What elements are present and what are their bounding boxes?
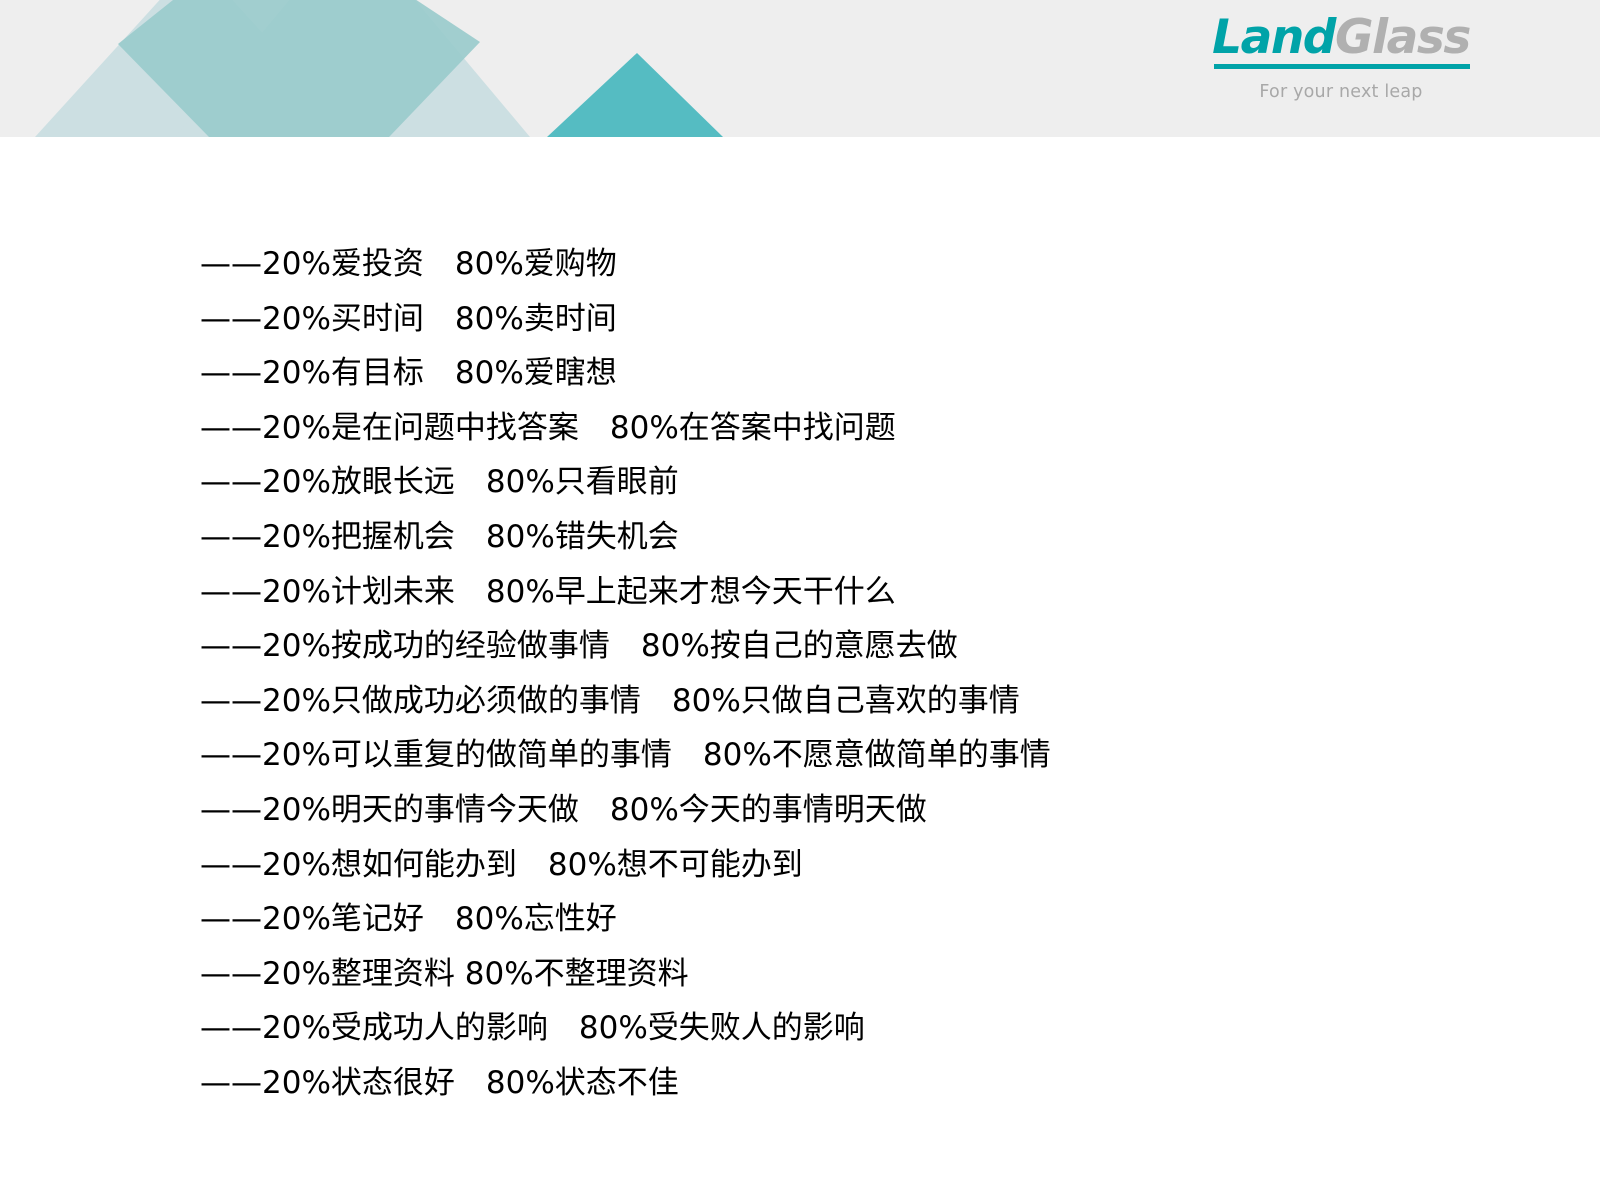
list-item: ——20%想如何能办到 80%想不可能办到	[200, 838, 1530, 893]
slide-body: ——20%爱投资 80%爱购物 ——20%买时间 80%卖时间 ——20%有目标…	[0, 137, 1600, 1200]
list-item: ——20%把握机会 80%错失机会	[200, 510, 1530, 565]
list-item: ——20%放眼长远 80%只看眼前	[200, 455, 1530, 510]
list-item: ——20%状态很好 80%状态不佳	[200, 1056, 1530, 1111]
list-item: ——20%计划未来 80%早上起来才想今天干什么	[200, 565, 1530, 620]
list-item: ——20%整理资料 80%不整理资料	[200, 947, 1530, 1002]
bullet-list: ——20%爱投资 80%爱购物 ——20%买时间 80%卖时间 ——20%有目标…	[200, 237, 1530, 1111]
logo-wordmark: LandGlass	[1210, 14, 1472, 61]
list-item: ——20%明天的事情今天做 80%今天的事情明天做	[200, 783, 1530, 838]
logo-tagline: For your next leap	[1210, 82, 1472, 102]
list-item: ——20%买时间 80%卖时间	[200, 292, 1530, 347]
list-item: ——20%是在问题中找答案 80%在答案中找问题	[200, 401, 1530, 456]
list-item: ——20%笔记好 80%忘性好	[200, 892, 1530, 947]
logo-word-land: Land	[1212, 10, 1335, 65]
list-item: ——20%爱投资 80%爱购物	[200, 237, 1530, 292]
brand-logo: LandGlass For your next leap	[1210, 14, 1472, 102]
header-banner: LandGlass For your next leap	[0, 0, 1600, 137]
triangle-accent	[547, 53, 723, 137]
list-item: ——20%受成功人的影响 80%受失败人的影响	[200, 1001, 1530, 1056]
list-item: ——20%按成功的经验做事情 80%按自己的意愿去做	[200, 619, 1530, 674]
logo-word-glass: Glass	[1335, 10, 1470, 65]
list-item: ——20%只做成功必须做的事情 80%只做自己喜欢的事情	[200, 674, 1530, 729]
list-item: ——20%可以重复的做简单的事情 80%不愿意做简单的事情	[200, 728, 1530, 783]
list-item: ——20%有目标 80%爱瞎想	[200, 346, 1530, 401]
